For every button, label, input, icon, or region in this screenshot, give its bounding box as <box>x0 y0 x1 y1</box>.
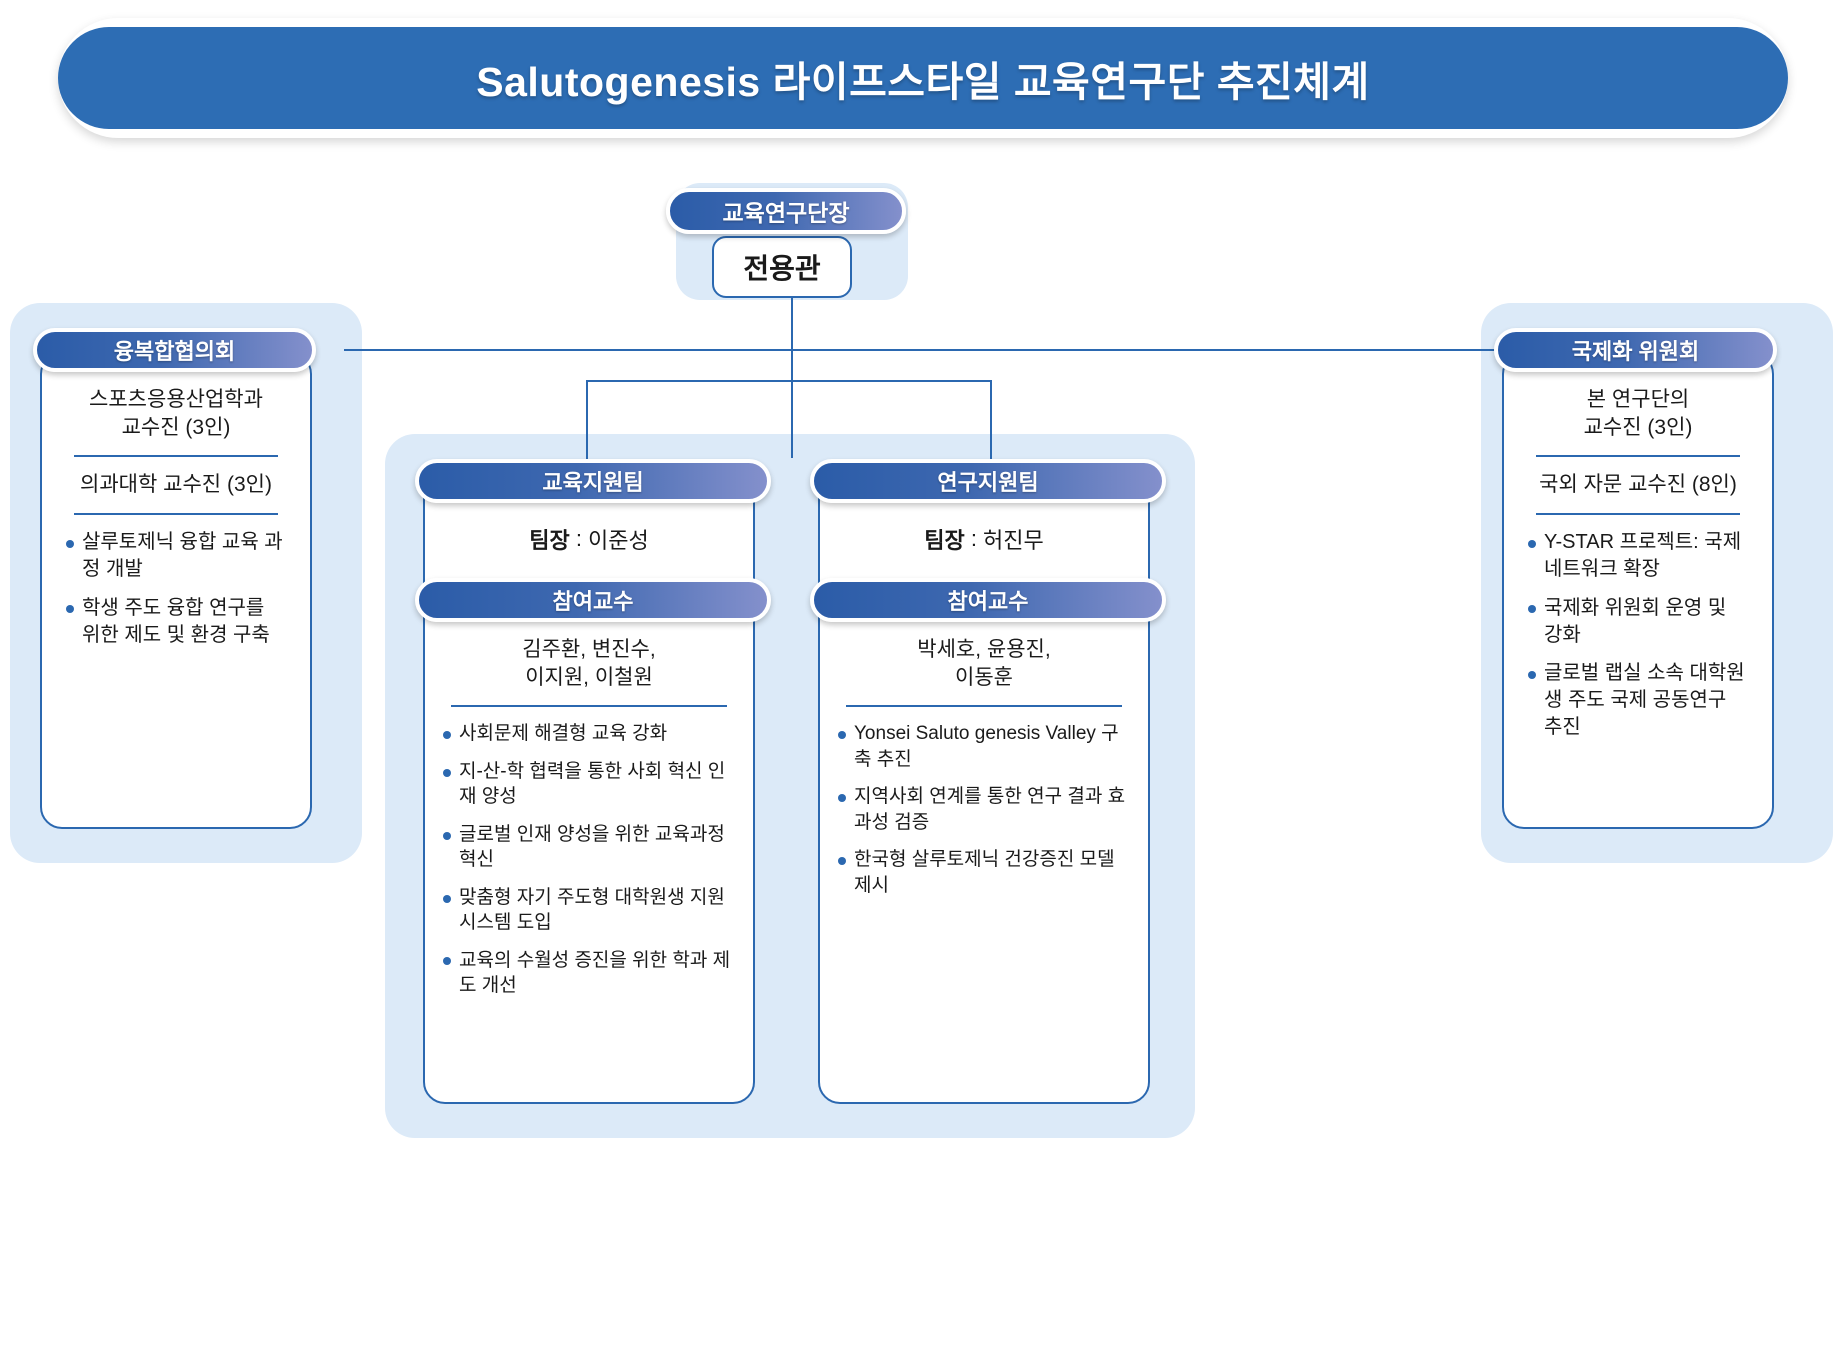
team-header-research: 연구지원팀 <box>810 459 1166 503</box>
left-panel-bullets: 살루토제닉 융합 교육 과정 개발학생 주도 융합 연구를 위한 제도 및 환경… <box>64 529 288 648</box>
page-title: Salutogenesis 라이프스타일 교육연구단 추진체계 <box>476 48 1369 108</box>
list-item: 글로벌 인재 양성을 위한 교육과정 혁신 <box>441 822 737 873</box>
team-divider-research <box>846 705 1122 707</box>
team-header-label-education: 교육지원팀 <box>542 465 643 497</box>
team-professors-header-label-education: 참여교수 <box>553 584 634 616</box>
director-card: 전용관 <box>712 236 852 298</box>
team-bullets-research: Yonsei Saluto genesis Valley 구축 추진지역사회 연… <box>836 721 1132 898</box>
team-leader-education: 팀장 : 이준성 <box>423 515 755 563</box>
team-professors-header-research: 참여교수 <box>810 578 1166 622</box>
team-professors-research: 박세호, 윤용진,이동훈 <box>836 636 1132 691</box>
left-panel-divider-2 <box>74 513 278 515</box>
left-panel-line2: 의과대학 교수진 (3인) <box>64 471 288 499</box>
team-header-label-research: 연구지원팀 <box>937 465 1038 497</box>
team-leader-label-education: 팀장 <box>529 523 569 555</box>
left-panel-header: 융복합협의회 <box>33 328 316 372</box>
director-name: 전용관 <box>714 238 850 300</box>
team-leader-name-education: 이준성 <box>588 523 649 555</box>
team-leader-colon-research: : <box>965 526 983 552</box>
team-bullets-education: 사회문제 해결형 교육 강화지-산-학 협력을 통한 사회 혁신 인재 양성글로… <box>441 721 737 998</box>
connector-team1-drop <box>586 380 588 462</box>
team-body-research: 박세호, 윤용진,이동훈 Yonsei Saluto genesis Valle… <box>818 636 1150 898</box>
list-item: 국제화 위원회 운영 및 강화 <box>1526 595 1750 649</box>
director-header-label: 교육연구단장 <box>723 194 850 228</box>
right-panel-line1: 본 연구단의교수진 (3인) <box>1526 386 1750 441</box>
right-panel-header: 국제화 위원회 <box>1494 328 1777 372</box>
director-header: 교육연구단장 <box>666 188 906 234</box>
left-panel-divider-1 <box>74 455 278 457</box>
team-body-education: 김주환, 변진수,이지원, 이철원 사회문제 해결형 교육 강화지-산-학 협력… <box>423 636 755 999</box>
left-panel-card: 스포츠응용산업학과교수진 (3인) 의과대학 교수진 (3인) 살루토제닉 융합… <box>40 352 312 829</box>
team-professors-education: 김주환, 변진수,이지원, 이철원 <box>441 636 737 691</box>
right-panel-header-label: 국제화 위원회 <box>1572 334 1700 366</box>
list-item: 살루토제닉 융합 교육 과정 개발 <box>64 529 288 583</box>
team-header-education: 교육지원팀 <box>415 459 771 503</box>
team-professors-header-education: 참여교수 <box>415 578 771 622</box>
list-item: 한국형 살루토제닉 건강증진 모델 제시 <box>836 847 1132 898</box>
list-item: 글로벌 랩실 소속 대학원생 주도 국제 공동연구 추진 <box>1526 660 1750 740</box>
right-panel-line2: 국외 자문 교수진 (8인) <box>1526 471 1750 499</box>
right-panel-divider-2 <box>1536 513 1740 515</box>
connector-horizontal-bus <box>344 349 1495 351</box>
right-panel-card: 본 연구단의교수진 (3인) 국외 자문 교수진 (8인) Y-STAR 프로젝… <box>1502 352 1774 829</box>
connector-director-vertical <box>791 298 793 458</box>
org-chart-diagram: Salutogenesis 라이프스타일 교육연구단 추진체계 교육연구단장 전… <box>0 0 1843 1357</box>
left-panel-line1: 스포츠응용산업학과교수진 (3인) <box>64 386 288 441</box>
team-leader-name-research: 허진무 <box>983 523 1044 555</box>
team-leader-colon-education: : <box>570 526 588 552</box>
list-item: 교육의 수월성 증진을 위한 학과 제도 개선 <box>441 948 737 999</box>
list-item: Yonsei Saluto genesis Valley 구축 추진 <box>836 721 1132 772</box>
right-panel-bullets: Y-STAR 프로젝트: 국제 네트워크 확장국제화 위원회 운영 및 강화글로… <box>1526 529 1750 741</box>
list-item: Y-STAR 프로젝트: 국제 네트워크 확장 <box>1526 529 1750 583</box>
list-item: 맞춤형 자기 주도형 대학원생 지원 시스템 도입 <box>441 885 737 936</box>
list-item: 사회문제 해결형 교육 강화 <box>441 721 737 746</box>
right-panel-divider-1 <box>1536 455 1740 457</box>
team-leader-research: 팀장 : 허진무 <box>818 515 1150 563</box>
list-item: 지-산-학 협력을 통한 사회 혁신 인재 양성 <box>441 759 737 810</box>
connector-team2-drop <box>990 380 992 462</box>
list-item: 지역사회 연계를 통한 연구 결과 효과성 검증 <box>836 784 1132 835</box>
team-divider-education <box>451 705 727 707</box>
list-item: 학생 주도 융합 연구를 위한 제도 및 환경 구축 <box>64 595 288 649</box>
title-banner: Salutogenesis 라이프스타일 교육연구단 추진체계 <box>58 27 1788 129</box>
connector-team-bus <box>586 380 992 382</box>
team-professors-header-label-research: 참여교수 <box>948 584 1029 616</box>
team-leader-label-research: 팀장 <box>924 523 964 555</box>
left-panel-header-label: 융복합협의회 <box>114 334 235 366</box>
